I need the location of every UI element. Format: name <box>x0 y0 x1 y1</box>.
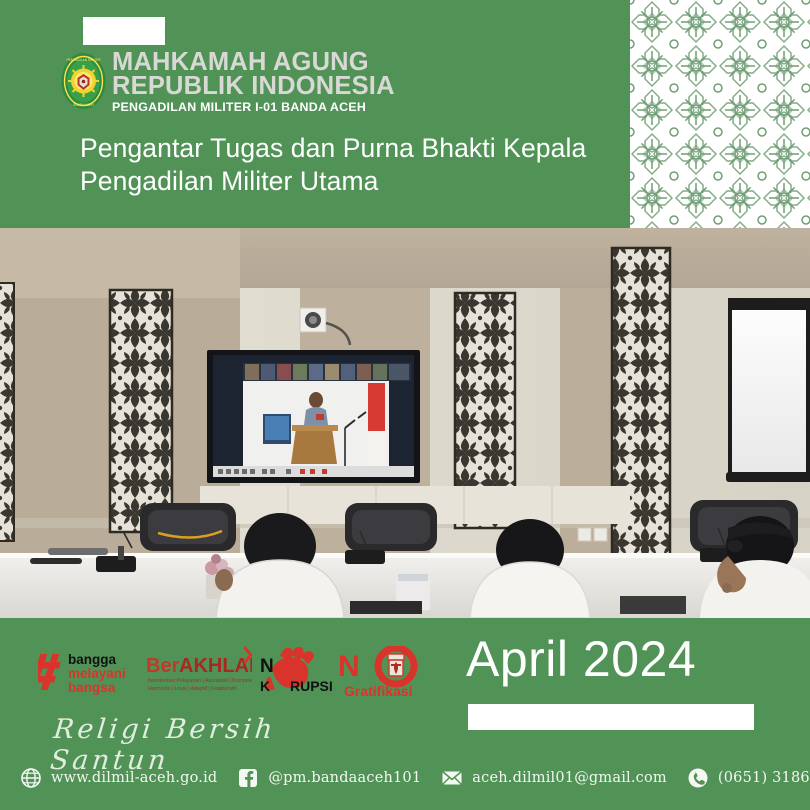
bangga-melayani-bangsa-logo-icon: bangga melayani bangsa <box>38 646 138 698</box>
contact-phone-text: (0651) 31865 <box>718 770 810 786</box>
svg-text:Gratifikasi: Gratifikasi <box>344 683 412 699</box>
contact-item-website[interactable]: www.dilmil-aceh.go.id <box>20 767 217 789</box>
institution-text: MAHKAMAH AGUNG REPUBLIK INDONESIA PENGAD… <box>112 50 395 115</box>
svg-text:melayani: melayani <box>68 666 126 681</box>
svg-text:PENGADILAN MILITER: PENGADILAN MILITER <box>66 58 101 62</box>
svg-text:berorientasi Pelayanan | Akunt: berorientasi Pelayanan | Akuntabel | Kom… <box>148 678 252 684</box>
svg-text:K: K <box>260 678 270 694</box>
contact-email-text: aceh.dilmil01@gmail.com <box>472 770 667 786</box>
svg-text:AKHLAK: AKHLAK <box>179 655 252 677</box>
svg-text:bangga: bangga <box>68 652 116 667</box>
poster-title: Pengantar Tugas dan Purna Bhakti Kepala … <box>80 132 610 198</box>
no-korupsi-logo-icon: N K RUPSI <box>260 646 336 698</box>
svg-text:bangsa: bangsa <box>68 680 116 695</box>
contact-strip: www.dilmil-aceh.go.id @pm.bandaaceh101 <box>0 757 810 799</box>
svg-text:N: N <box>260 656 274 677</box>
poster-canvas: PENGADILAN MILITER BANDA ACEH MAHKAMAH A… <box>0 0 810 810</box>
svg-text:Ber: Ber <box>146 655 180 677</box>
berakhlak-logo-icon: Ber AKHLAK berorientasi Pelayanan | Akun… <box>146 646 252 696</box>
svg-text:RUPSI: RUPSI <box>290 678 333 694</box>
event-month-blank-box <box>468 704 754 730</box>
institution-line3: PENGADILAN MILITER I-01 BANDA ACEH <box>112 99 395 115</box>
email-icon <box>441 767 463 789</box>
globe-icon <box>20 767 42 789</box>
svg-text:N: N <box>338 650 360 683</box>
contact-item-phone[interactable]: (0651) 31865 <box>687 767 810 789</box>
islamic-pattern-panel <box>630 0 810 262</box>
contact-website-text: www.dilmil-aceh.go.id <box>51 770 217 786</box>
projection-screen <box>726 298 810 482</box>
institution-line2: REPUBLIK INDONESIA <box>112 74 395 98</box>
contact-item-email[interactable]: aceh.dilmil01@gmail.com <box>441 767 667 789</box>
institution-line1: MAHKAMAH AGUNG <box>112 50 395 74</box>
no-gratifikasi-logo-icon: N Gratifikasi <box>338 646 424 700</box>
svg-text:Harmonis | Loyal | Adaptif | K: Harmonis | Loyal | Adaptif | Kolaboratif <box>148 686 237 692</box>
header-white-tag <box>83 17 165 45</box>
event-month: April 2024 <box>466 632 696 686</box>
contact-facebook-text: @pm.bandaaceh101 <box>268 770 421 786</box>
contact-item-facebook[interactable]: @pm.bandaaceh101 <box>237 767 421 789</box>
event-photo <box>0 228 810 618</box>
svg-text:BANDA ACEH: BANDA ACEH <box>73 103 94 107</box>
institution-brand: PENGADILAN MILITER BANDA ACEH MAHKAMAH A… <box>60 50 360 112</box>
phone-icon <box>687 767 709 789</box>
facebook-icon <box>237 767 259 789</box>
mahkamah-agung-emblem-icon: PENGADILAN MILITER BANDA ACEH <box>60 52 107 110</box>
